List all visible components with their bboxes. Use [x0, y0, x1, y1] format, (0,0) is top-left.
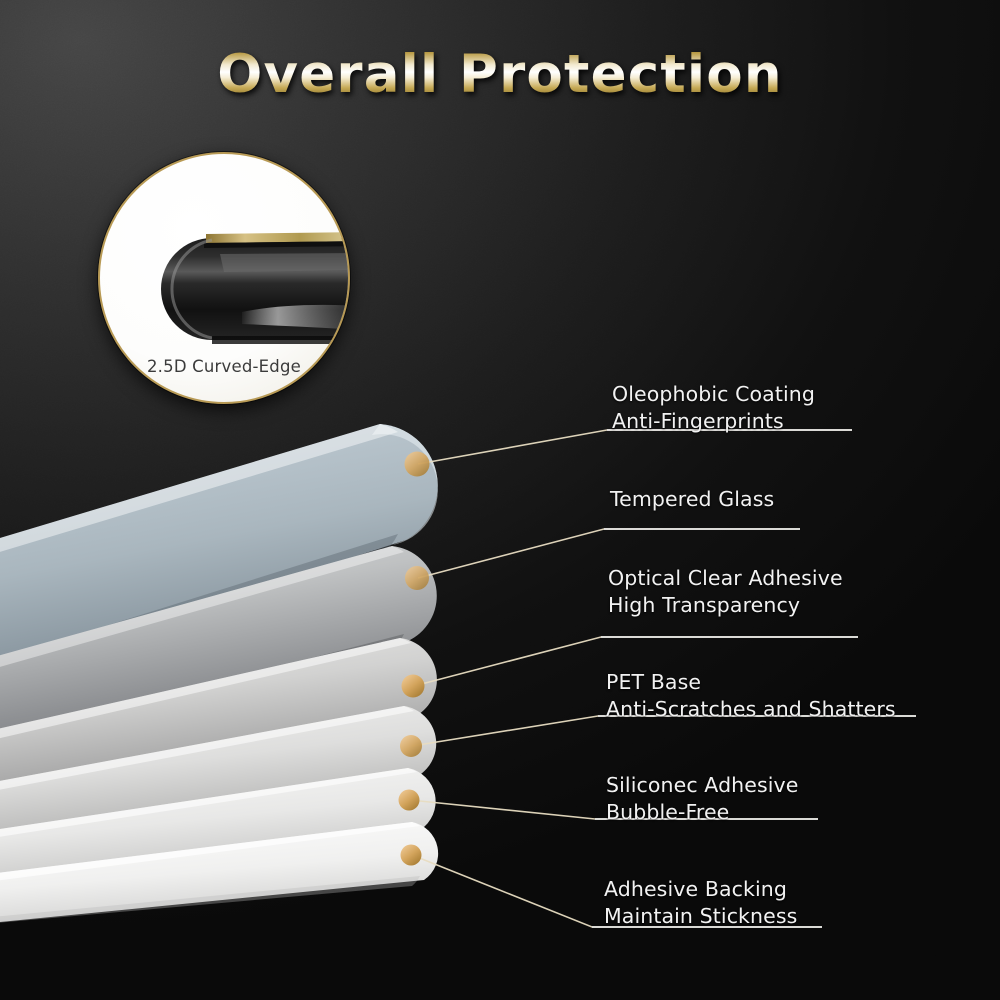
anchor-dot-6	[401, 845, 422, 866]
callout-4-line1: PET Base	[606, 670, 701, 694]
callout-4-line2: Anti-Scratches and Shatters	[606, 696, 896, 723]
anchor-dot-2	[405, 566, 429, 590]
leader-line-1	[418, 430, 852, 464]
anchor-dot-4	[400, 735, 422, 757]
callout-5-line1: Siliconec Adhesive	[606, 773, 799, 797]
callout-1-line1: Oleophobic Coating	[612, 382, 815, 406]
callout-label-1: Oleophobic Coating Anti-Fingerprints	[612, 381, 815, 435]
anchor-dot-5	[399, 790, 420, 811]
callout-label-3: Optical Clear Adhesive High Transparency	[608, 565, 843, 619]
callout-2-line1: Tempered Glass	[610, 487, 774, 511]
exploded-layer-stack	[0, 0, 1000, 1000]
infographic-canvas: Overall Protection	[0, 0, 1000, 1000]
callout-label-5: Siliconec Adhesive Bubble-Free	[606, 772, 799, 826]
anchor-dot-1	[405, 452, 430, 477]
callout-label-2: Tempered Glass	[610, 486, 774, 513]
anchor-dot-3	[402, 675, 425, 698]
callout-label-6: Adhesive Backing Maintain Stickness	[604, 876, 797, 930]
callout-6-line2: Maintain Stickness	[604, 903, 797, 930]
callout-3-line1: Optical Clear Adhesive	[608, 566, 843, 590]
callout-3-line2: High Transparency	[608, 592, 843, 619]
callout-5-line2: Bubble-Free	[606, 799, 799, 826]
callout-1-line2: Anti-Fingerprints	[612, 408, 815, 435]
callout-label-4: PET Base Anti-Scratches and Shatters	[606, 669, 896, 723]
callout-6-line1: Adhesive Backing	[604, 877, 787, 901]
